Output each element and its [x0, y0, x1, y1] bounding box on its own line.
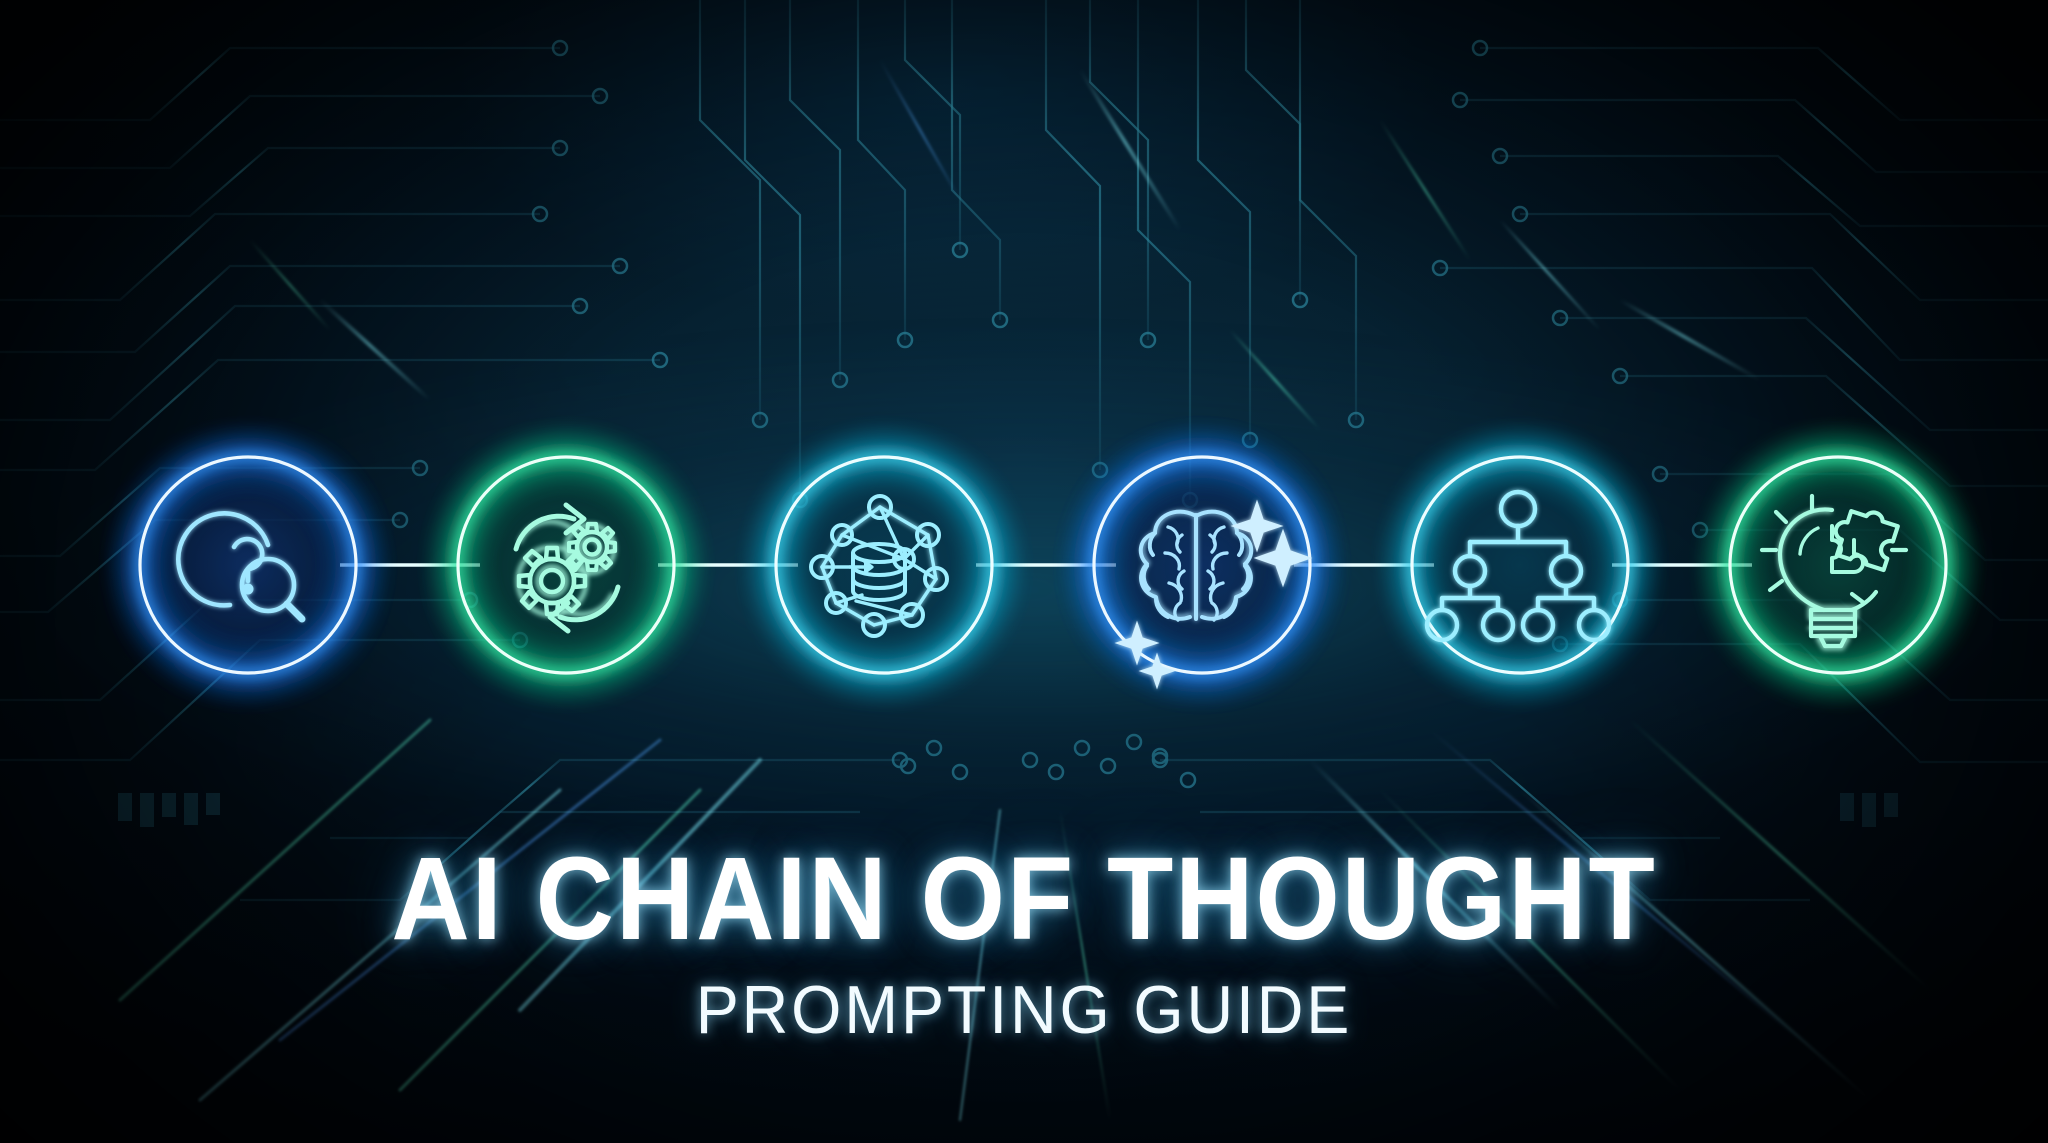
infographic-banner: AI CHAIN OF THOUGHT PROMPTING GUIDE: [0, 0, 2048, 1143]
step-circle-4[interactable]: [1090, 453, 1314, 687]
step-circle-2[interactable]: [454, 453, 678, 677]
page-title: AI CHAIN OF THOUGHT: [82, 840, 1966, 958]
step-circle-1[interactable]: [136, 453, 360, 677]
step-circle-5[interactable]: [1408, 453, 1632, 677]
step-circle-6[interactable]: [1726, 453, 1950, 677]
page-subtitle: PROMPTING GUIDE: [51, 976, 1997, 1044]
title-block: AI CHAIN OF THOUGHT PROMPTING GUIDE: [0, 840, 2048, 1044]
step-circle-3[interactable]: [772, 453, 996, 677]
